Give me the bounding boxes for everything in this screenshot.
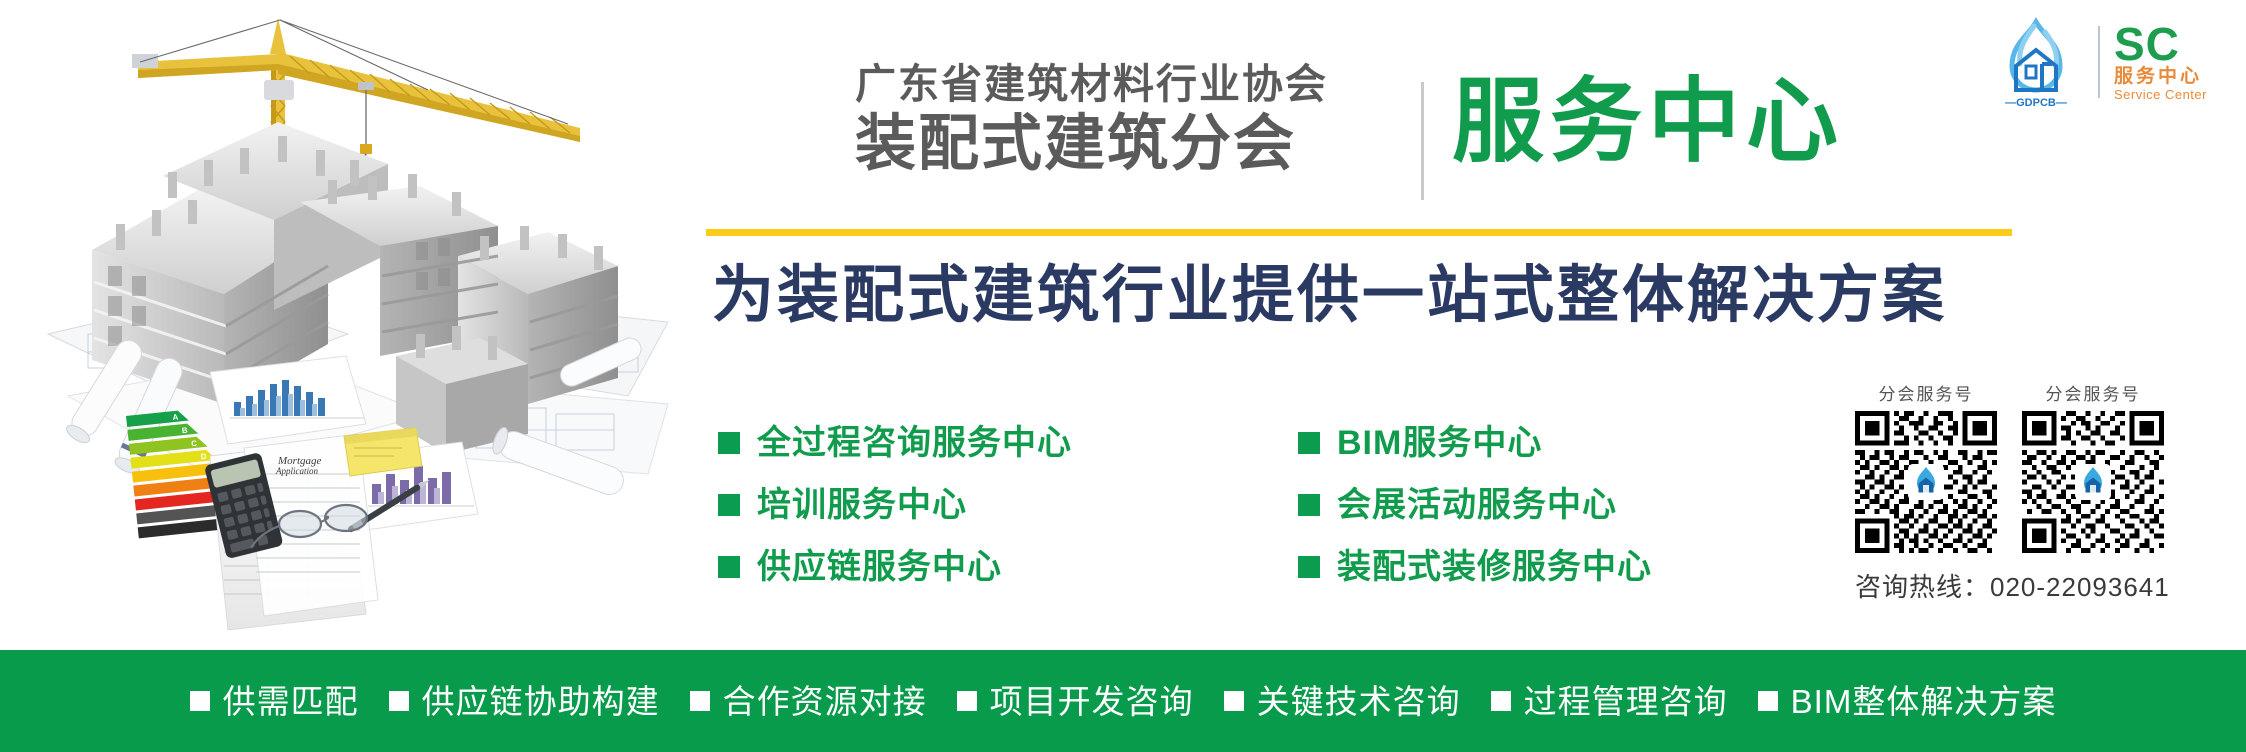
square-bullet-icon	[190, 691, 210, 711]
service-item[interactable]: BIM服务中心	[1298, 412, 1652, 474]
svg-text:C: C	[191, 439, 198, 449]
service-item-label: 装配式装修服务中心	[1337, 550, 1652, 584]
wechat-qr-code-1[interactable]	[1855, 411, 1997, 553]
service-item[interactable]: 全过程咨询服务中心	[718, 412, 1072, 474]
bar-item-label: BIM整体解决方案	[1791, 685, 2057, 718]
association-name-line1: 广东省建筑材料行业协会	[855, 62, 1415, 107]
service-item-label: BIM服务中心	[1337, 426, 1542, 460]
service-item[interactable]: 供应链服务中心	[718, 536, 1072, 598]
corporate-logo: —GDPCB— SC 服务中心 Service Center	[1988, 14, 2218, 110]
qr-caption: 分会服务号	[1855, 380, 1997, 405]
qr-code-cell[interactable]: 分会服务号	[1855, 380, 1997, 553]
service-list-right: BIM服务中心 会展活动服务中心 装配式装修服务中心	[1298, 412, 1652, 598]
bar-item-label: 项目开发咨询	[990, 685, 1194, 718]
square-bullet-icon	[389, 691, 409, 711]
service-center-heading: 服务中心	[1452, 72, 1844, 172]
service-center-logo-text: SC 服务中心 Service Center	[2114, 22, 2207, 102]
logo-divider	[2098, 26, 2100, 98]
association-title: 广东省建筑材料行业协会 装配式建筑分会	[855, 62, 1415, 177]
svg-text:B: B	[181, 426, 188, 436]
title-vertical-divider	[1421, 82, 1424, 200]
svg-text:Application: Application	[275, 466, 318, 476]
service-item[interactable]: 装配式装修服务中心	[1298, 536, 1652, 598]
bar-item-label: 供应链协助构建	[422, 685, 660, 718]
gold-divider-rule	[706, 229, 2012, 236]
gdpcb-flame-house-logo-icon: —GDPCB—	[1988, 14, 2084, 110]
svg-text:A: A	[172, 413, 179, 423]
qr-center-logo-icon	[1908, 464, 1944, 500]
bar-item[interactable]: BIM整体解决方案	[1758, 685, 2057, 718]
qr-code-block: 分会服务号	[1855, 380, 2195, 604]
bar-item[interactable]: 供需匹配	[190, 685, 359, 718]
square-bullet-icon	[1758, 691, 1778, 711]
square-bullet-icon	[1298, 432, 1320, 454]
gdpcb-wordmark: —GDPCB—	[2005, 97, 2067, 109]
sc-letters: SC	[2114, 22, 2207, 66]
bar-item-label: 过程管理咨询	[1524, 685, 1728, 718]
square-bullet-icon	[1298, 494, 1320, 516]
construction-site-3d-render: ABC DEF GHJ	[28, 4, 688, 634]
sc-chinese-label: 服务中心	[2114, 66, 2207, 87]
square-bullet-icon	[690, 691, 710, 711]
square-bullet-icon	[718, 432, 740, 454]
service-item-label: 供应链服务中心	[757, 550, 1002, 584]
service-item[interactable]: 会展活动服务中心	[1298, 474, 1652, 536]
qr-center-logo-icon	[2075, 464, 2111, 500]
square-bullet-icon	[718, 556, 740, 578]
promotional-banner: ABC DEF GHJ	[0, 0, 2246, 752]
qr-code-cell[interactable]: 分会服务号	[2022, 380, 2164, 553]
wechat-qr-code-2[interactable]	[2022, 411, 2164, 553]
svg-text:D: D	[200, 452, 207, 462]
service-item-label: 会展活动服务中心	[1337, 488, 1617, 522]
bar-item[interactable]: 关键技术咨询	[1224, 685, 1461, 718]
bar-item[interactable]: 项目开发咨询	[957, 685, 1194, 718]
hotline-text: 咨询热线：020-22093641	[1855, 567, 2195, 604]
bar-item-label: 供需匹配	[223, 685, 359, 718]
bar-item-label: 合作资源对接	[723, 685, 927, 718]
square-bullet-icon	[1491, 691, 1511, 711]
service-item-label: 全过程咨询服务中心	[757, 426, 1072, 460]
service-item-label: 培训服务中心	[757, 488, 967, 522]
tagline-text: 为装配式建筑行业提供一站式整体解决方案	[712, 258, 1947, 334]
bar-item[interactable]: 供应链协助构建	[389, 685, 660, 718]
bar-item-label: 关键技术咨询	[1257, 685, 1461, 718]
bottom-service-bar: 供需匹配 供应链协助构建 合作资源对接 项目开发咨询 关键技术咨询 过程管理咨询…	[0, 650, 2246, 752]
association-name-line2: 装配式建筑分会	[855, 109, 1415, 177]
square-bullet-icon	[718, 494, 740, 516]
sc-english-label: Service Center	[2114, 87, 2207, 102]
qr-caption: 分会服务号	[2022, 380, 2164, 405]
service-list-left: 全过程咨询服务中心 培训服务中心 供应链服务中心	[718, 412, 1072, 598]
square-bullet-icon	[957, 691, 977, 711]
service-item[interactable]: 培训服务中心	[718, 474, 1072, 536]
square-bullet-icon	[1224, 691, 1244, 711]
bar-item[interactable]: 合作资源对接	[690, 685, 927, 718]
bar-item[interactable]: 过程管理咨询	[1491, 685, 1728, 718]
square-bullet-icon	[1298, 556, 1320, 578]
